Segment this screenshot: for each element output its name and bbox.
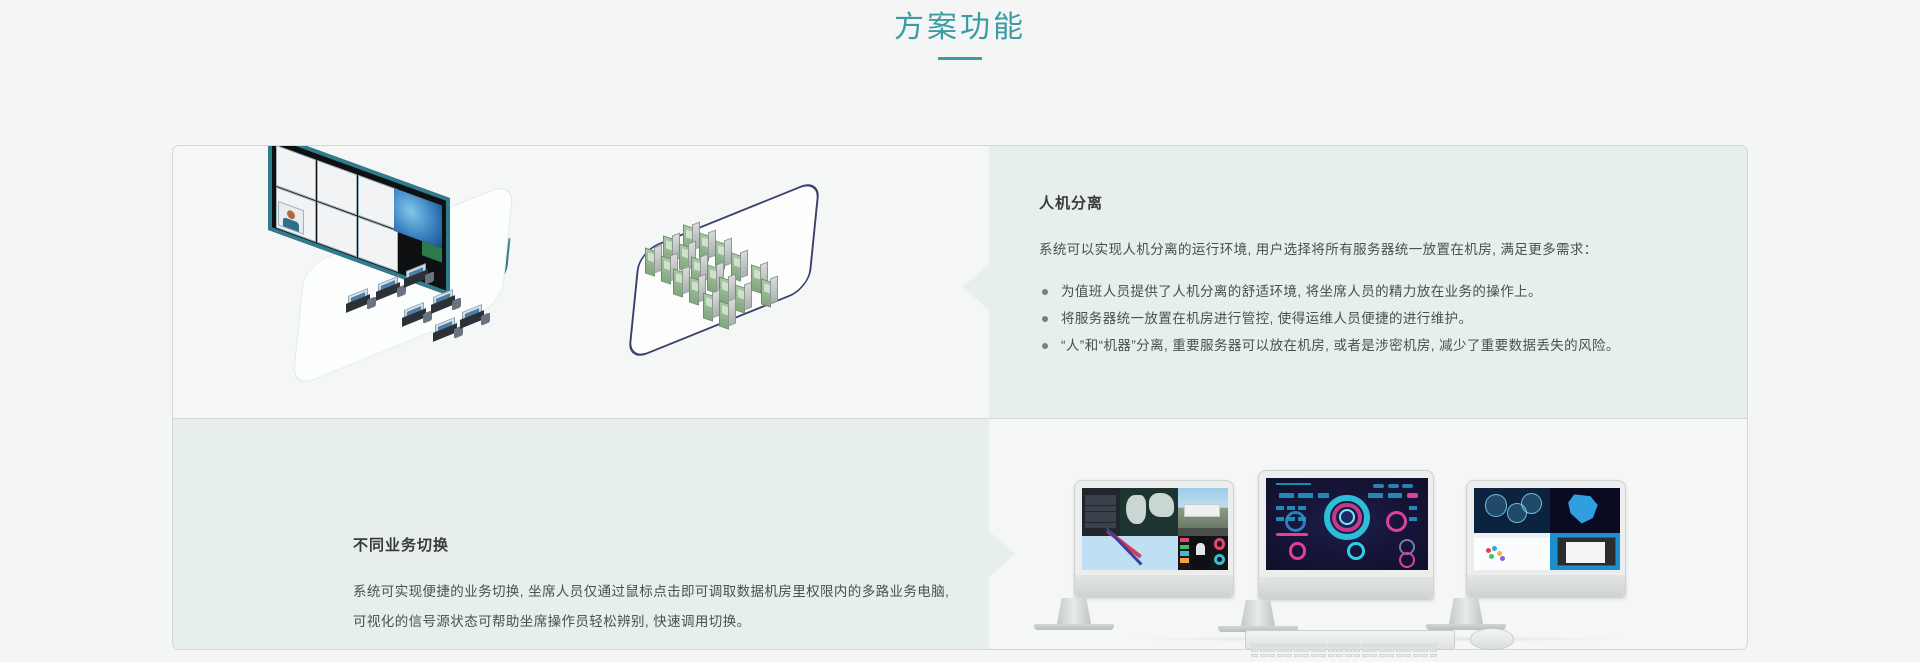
feature-description: 系统可以实现人机分离的运行环境, 用户选择将所有服务器统一放置在机房, 满足更多… <box>1039 235 1739 265</box>
page-header: 方案功能 <box>0 0 1920 100</box>
route-map-panel <box>1082 536 1178 570</box>
monitor-1-stand <box>1057 598 1091 624</box>
hud-gauge-left <box>1285 511 1306 532</box>
hud-gauge-br2 <box>1399 552 1415 568</box>
hud-section-label <box>1276 533 1308 536</box>
server-rack <box>735 286 752 312</box>
keyboard-row <box>1251 634 1451 637</box>
title-underline-rule <box>938 57 982 60</box>
cad-window <box>1557 537 1616 567</box>
hud-cell <box>1276 517 1284 522</box>
feature-heading: 人机分离 <box>1039 192 1739 213</box>
keyboard-row <box>1251 639 1451 642</box>
server-rack <box>645 249 662 275</box>
topology-node <box>1521 493 1542 514</box>
operator-desk <box>376 280 402 296</box>
keyboard-icon <box>1245 630 1455 650</box>
server-rack <box>703 294 720 320</box>
hud-gauge-bl <box>1289 542 1307 560</box>
hud-metric <box>1318 493 1329 499</box>
network-topology-panel <box>1474 488 1550 533</box>
feature-row-human-machine-separation: 人机分离 系统可以实现人机分离的运行环境, 用户选择将所有服务器统一放置在机房,… <box>173 146 1748 418</box>
feature-text-business-switching: 不同业务切换 系统可实现便捷的业务切换, 坐席人员仅通过鼠标点击即可调取数据机房… <box>353 534 993 637</box>
operator-desk <box>431 293 457 309</box>
hud-metric <box>1279 493 1294 499</box>
mouse-icon <box>1470 628 1514 650</box>
light-report-panel <box>1474 533 1550 570</box>
china-map-panel <box>1550 488 1620 533</box>
monitor-3-chin <box>1467 575 1625 597</box>
monitor-1-chin <box>1075 575 1233 597</box>
feature-heading: 不同业务切换 <box>353 534 993 555</box>
hud-metric <box>1388 493 1403 499</box>
feature-description-line-2: 可视化的信号源状态可帮助坐席操作员轻松辨别, 快速调用切换。 <box>353 607 993 637</box>
server-room-illustration <box>611 206 861 356</box>
server-rack <box>761 280 778 306</box>
operator-desk <box>404 267 430 283</box>
hud-title-bar <box>1276 483 1312 486</box>
hud-cell <box>1409 506 1417 511</box>
operator-desk <box>433 321 459 337</box>
site-photo-panel <box>1178 488 1228 536</box>
operator-desk <box>460 308 486 324</box>
monitors-illustration <box>1060 450 1720 650</box>
hud-cell <box>1276 506 1284 511</box>
operator-desk <box>402 306 428 322</box>
monitor-2-screen <box>1266 478 1428 570</box>
feature-bullet-list: 为值班人员提供了人机分离的舒适环境, 将坐席人员的精力放在业务的操作上。 将服务… <box>1039 278 1739 359</box>
monitor-3-stand <box>1449 598 1483 624</box>
hud-metric-alert <box>1407 493 1418 499</box>
monitor-3-screen <box>1474 488 1620 570</box>
desk-chair <box>481 312 490 326</box>
donut-charts-panel <box>1210 536 1228 570</box>
hud-cell <box>1409 517 1417 522</box>
list-item: 将服务器统一放置在机房进行管控, 使得运维人员便捷的进行维护。 <box>1039 305 1739 332</box>
monitor-1-screen <box>1082 488 1228 570</box>
list-item: 为值班人员提供了人机分离的舒适环境, 将坐席人员的精力放在业务的操作上。 <box>1039 278 1739 305</box>
server-rack <box>719 302 736 328</box>
video-wall-desktop-wallpaper <box>394 188 442 248</box>
panel-pointer-notch-left <box>963 264 989 310</box>
log-panel <box>1082 488 1120 536</box>
hud-metric <box>1368 493 1383 499</box>
hud-cell <box>1287 517 1295 522</box>
hud-pill <box>1402 484 1413 489</box>
monitor-1-foot <box>1034 624 1114 630</box>
control-room-illustration <box>268 166 568 396</box>
hud-cell <box>1298 517 1306 522</box>
china-map-shape <box>1568 494 1599 524</box>
monitor-2-stand <box>1241 600 1275 626</box>
keyboard-row <box>1251 644 1451 647</box>
cad-window-panel <box>1550 533 1620 570</box>
status-chips-panel <box>1178 536 1190 570</box>
report-toolbar <box>1474 533 1550 538</box>
person-card-panel <box>1190 536 1210 570</box>
list-item: “人”和“机器”分离, 重要服务器可以放在机房, 或者是涉密机房, 减少了重要数… <box>1039 332 1739 359</box>
feature-description-line-1: 系统可实现便捷的业务切换, 坐席人员仅通过鼠标点击即可调取数据机房里权限内的多路… <box>353 577 993 607</box>
world-map-panel <box>1120 488 1178 536</box>
operator-desk <box>346 292 372 308</box>
illustration-panel-control-room <box>173 146 989 418</box>
hud-pill <box>1373 484 1384 489</box>
hud-cell <box>1298 506 1306 511</box>
monitor-2-chin <box>1259 577 1433 599</box>
hud-metric <box>1298 493 1313 499</box>
server-rack <box>673 270 690 296</box>
page-title: 方案功能 <box>0 0 1920 56</box>
hud-gauge-bc <box>1347 542 1365 560</box>
topology-node <box>1485 494 1508 517</box>
hud-gauge-right <box>1386 511 1407 532</box>
hud-cell <box>1287 506 1295 511</box>
feature-text-human-machine-separation: 人机分离 系统可以实现人机分离的运行环境, 用户选择将所有服务器统一放置在机房,… <box>1039 192 1739 359</box>
hud-pill <box>1388 484 1399 489</box>
hud-dashboard <box>1266 478 1428 570</box>
